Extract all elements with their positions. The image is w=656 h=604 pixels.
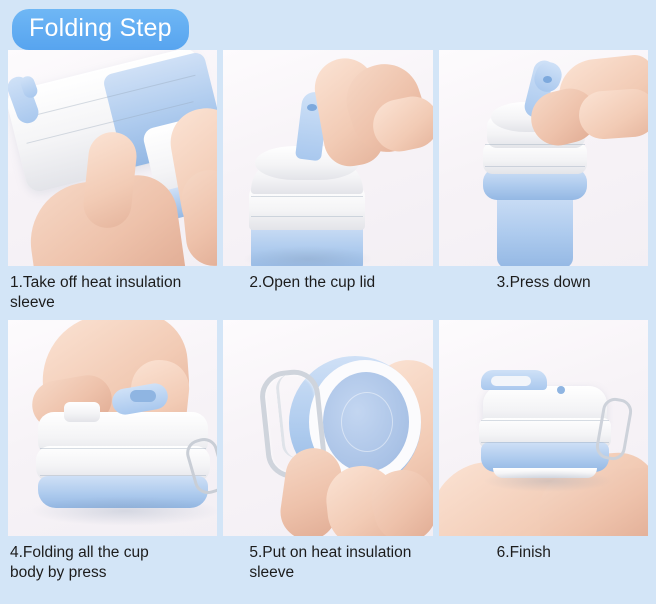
step-cell-5: 5.Put on heat insulation sleeve (223, 320, 432, 584)
step-cell-3: 3.Press down (439, 50, 648, 314)
steps-grid: 1.Take off heat insulation sleeve (0, 50, 656, 584)
step-photo-3 (439, 50, 648, 266)
folding-step-infographic: Folding Step (0, 0, 656, 604)
header: Folding Step (0, 0, 656, 50)
step-photo-4 (8, 320, 217, 536)
step-photo-2 (223, 50, 432, 266)
step-caption-3: 3.Press down (439, 266, 648, 314)
step-photo-1 (8, 50, 217, 266)
step-cell-6: 6.Finish (439, 320, 648, 584)
steps-row-1: 1.Take off heat insulation sleeve (0, 50, 656, 314)
step-cell-1: 1.Take off heat insulation sleeve (8, 50, 217, 314)
steps-row-2: 4.Folding all the cup body by press (0, 320, 656, 584)
step-caption-4: 4.Folding all the cup body by press (8, 536, 217, 584)
step-cell-2: 2.Open the cup lid (223, 50, 432, 314)
page-title: Folding Step (12, 9, 189, 50)
step-caption-6: 6.Finish (439, 536, 648, 584)
step-photo-5 (223, 320, 432, 536)
step-caption-5: 5.Put on heat insulation sleeve (223, 536, 432, 584)
step-caption-1: 1.Take off heat insulation sleeve (8, 266, 217, 314)
step-cell-4: 4.Folding all the cup body by press (8, 320, 217, 584)
step-caption-2: 2.Open the cup lid (223, 266, 432, 314)
step-photo-6 (439, 320, 648, 536)
